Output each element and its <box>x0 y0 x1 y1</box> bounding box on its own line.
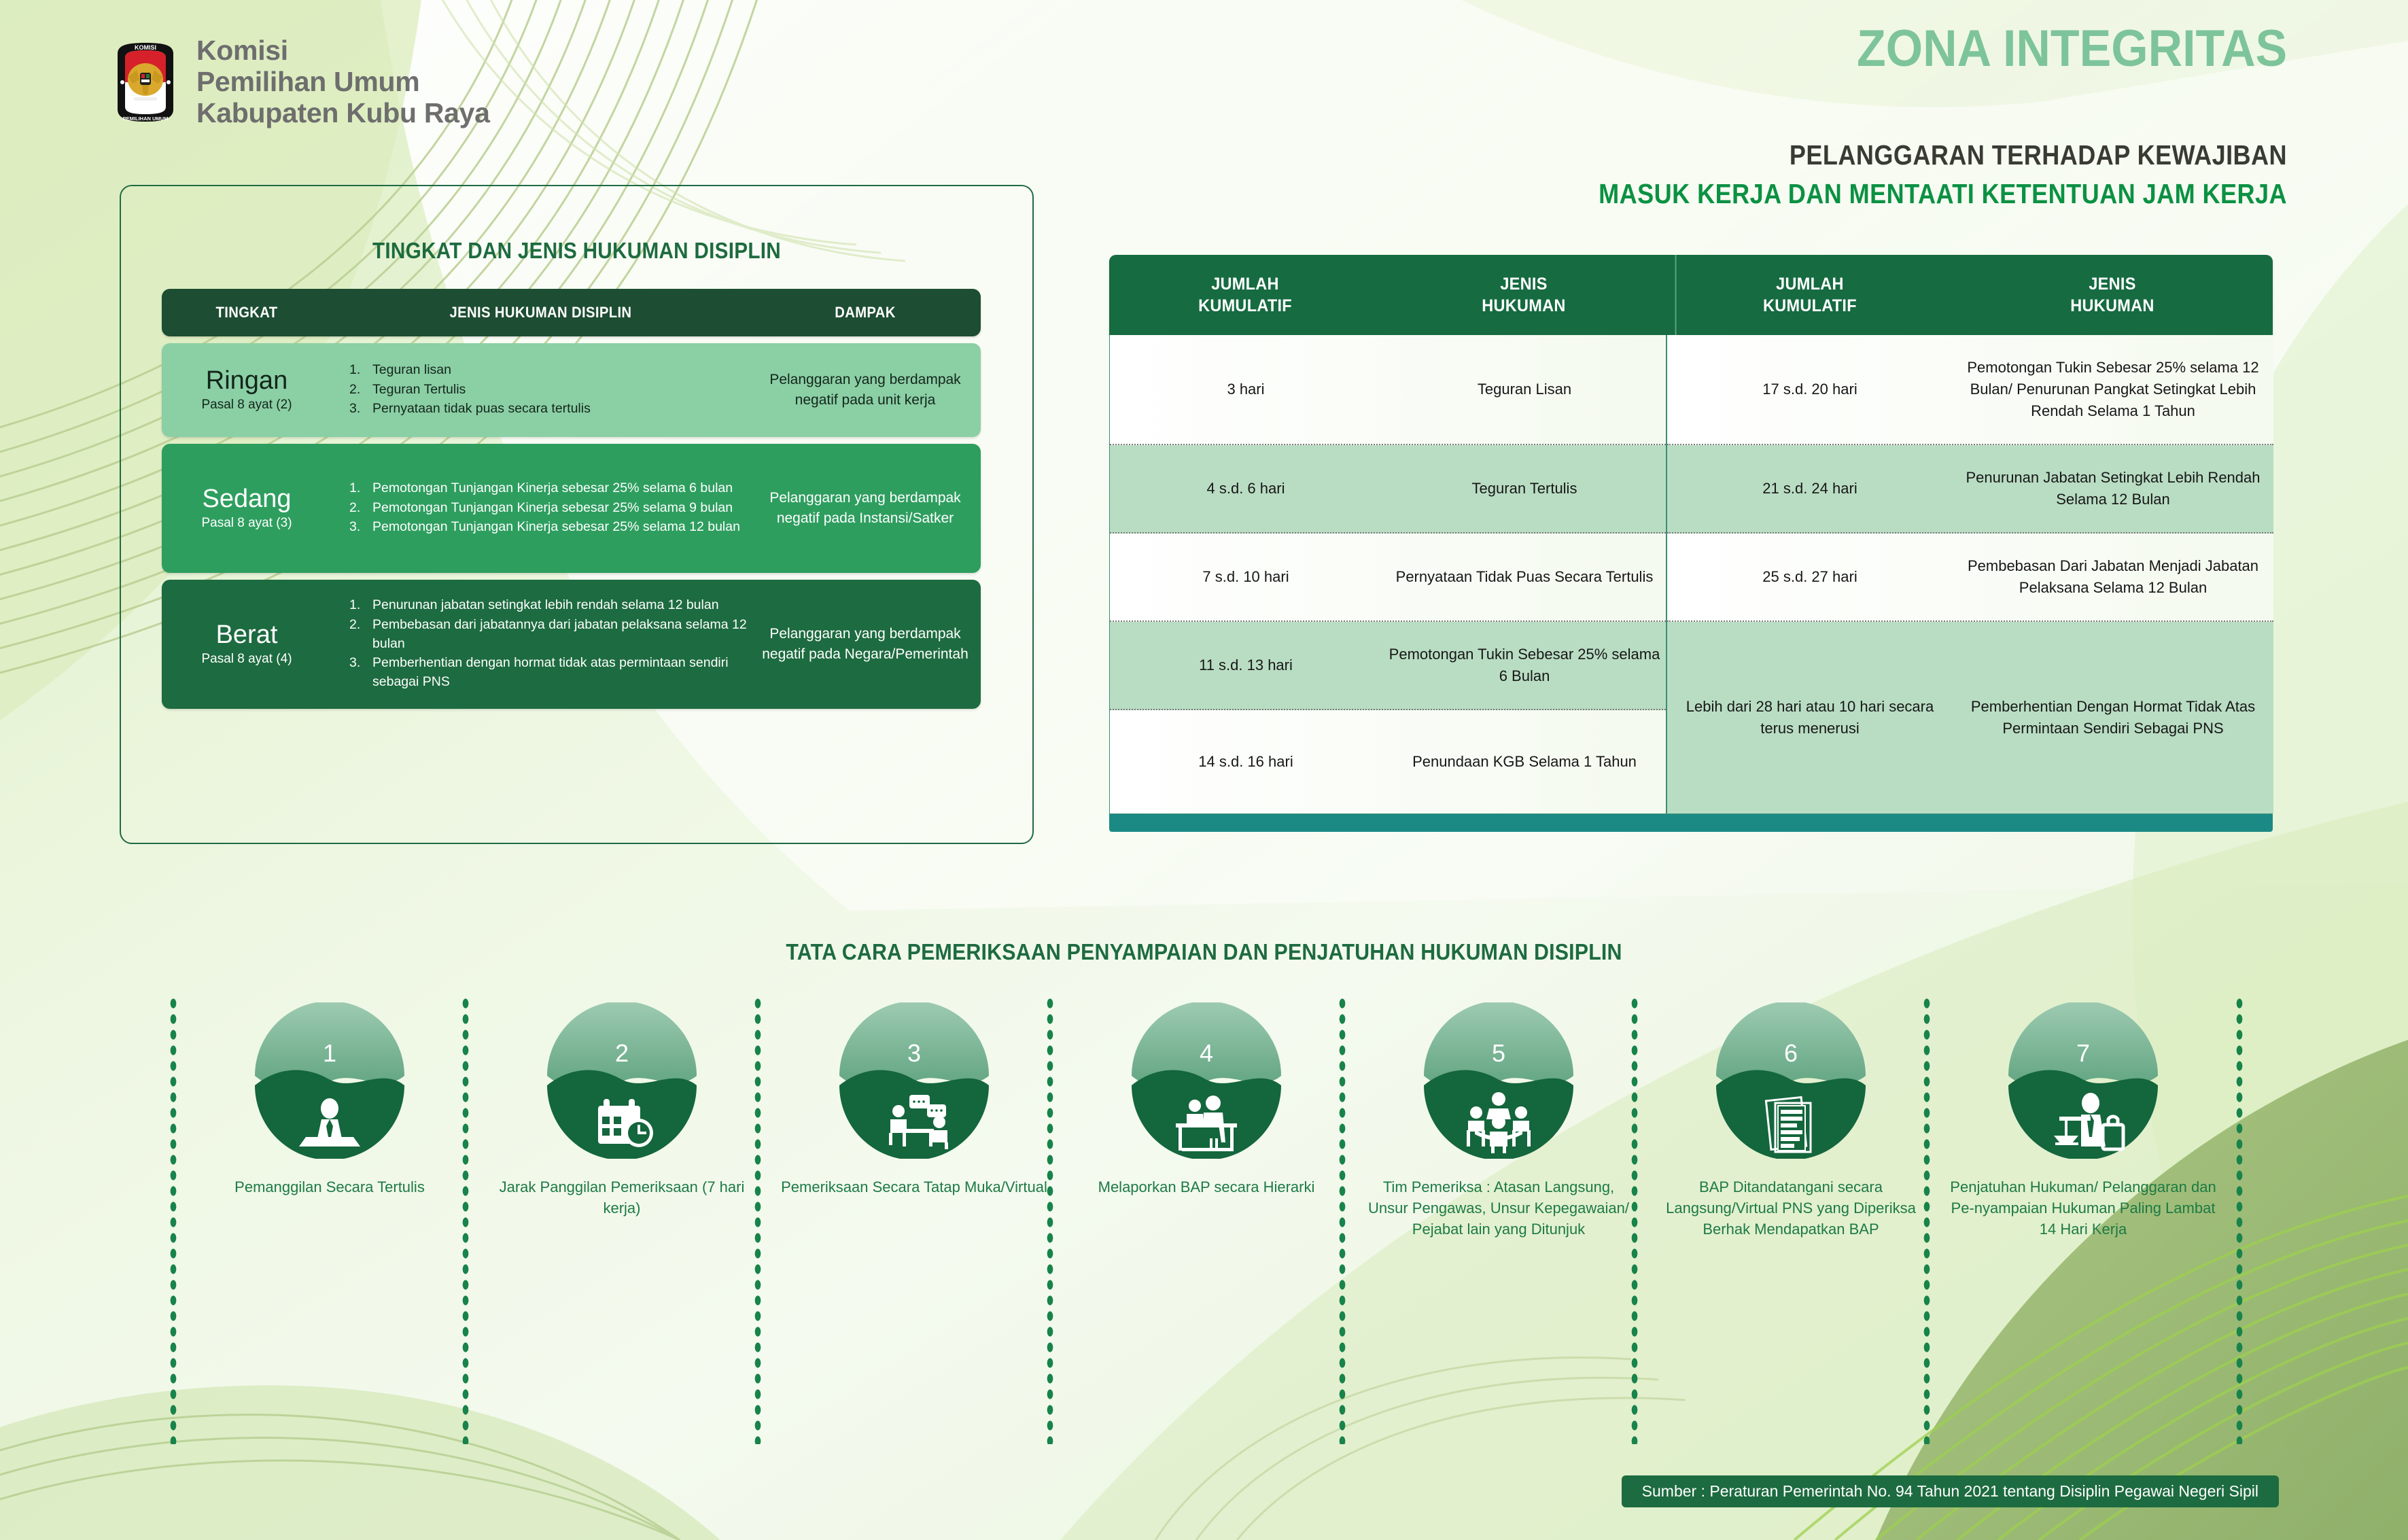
org-logo-block: KOMISI PEMILIHAN UMUM Komisi Pemilihan U… <box>112 35 490 129</box>
cumulative-absence-table: JUMLAH KUMULATIF JENIS HUKUMAN JUMLAH KU… <box>1109 255 2273 832</box>
dotted-divider <box>169 996 178 1444</box>
days-cell: 11 s.d. 13 hari <box>1110 650 1382 680</box>
process-step-2[interactable]: 2 Jarak Panggilan Pemeriksaan (7 hari ke… <box>476 996 768 1240</box>
process-step-6[interactable]: 6 BAP Ditandatangani secara Langsung/Vir… <box>1645 996 1937 1240</box>
step-number: 1 <box>251 1039 408 1068</box>
step-label: Pemanggilan Secara Tertulis <box>184 1176 476 1197</box>
step-label: BAP Ditandatangani secara Langsung/Virtu… <box>1645 1176 1937 1240</box>
list-item: 3.Pernyataan tidak puas secara tertulis <box>349 400 750 419</box>
table-header-row: TINGKAT JENIS HUKUMAN DISIPLIN DAMPAK <box>162 289 981 336</box>
table-row: Ringan Pasal 8 ayat (2) 1.Teguran lisan … <box>162 343 981 437</box>
step-badge: 2 <box>544 1002 700 1159</box>
list-item: 1.Pemotongan Tunjangan Kinerja sebesar 2… <box>349 479 750 498</box>
days-cell: 21 s.d. 24 hari <box>1667 474 1953 504</box>
source-note: Sumber : Peraturan Pemerintah No. 94 Tah… <box>1622 1475 2279 1507</box>
kpu-seal-icon: KOMISI PEMILIHAN UMUM <box>112 41 179 123</box>
table-row: 4 s.d. 6 hari Teguran Tertulis <box>1110 445 1666 533</box>
process-step-4[interactable]: 4 Melaporkan BAP secara Hierarki <box>1060 996 1353 1240</box>
step-number: 6 <box>1713 1039 1869 1068</box>
column-header-jenis-hukuman-1: JENIS HUKUMAN <box>1390 255 1658 335</box>
table-header-row: JUMLAH KUMULATIF JENIS HUKUMAN JUMLAH KU… <box>1109 255 2273 335</box>
list-item: 2.Pembebasan dari jabatannya dari jabata… <box>349 616 750 653</box>
list-item: 2.Teguran Tertulis <box>349 381 750 400</box>
column-header-jenis: JENIS HUKUMAN DISIPLIN <box>349 304 733 321</box>
step-badge: 5 <box>1420 1002 1577 1159</box>
brand-title: ZONA INTEGRITAS <box>1857 19 2287 78</box>
level-article: Pasal 8 ayat (2) <box>162 398 332 413</box>
impact-cell: Pelanggaran yang berdampak negatif pada … <box>750 488 981 529</box>
process-step-7[interactable]: 7 Penjatuhan Hukuman/ Pelanggaran dan Pe… <box>1937 996 2229 1240</box>
punishment-list: 1.Teguran lisan 2.Teguran Tertulis 3.Per… <box>332 361 750 419</box>
poster-subtitle: PELANGGARAN TERHADAP KEWAJIBAN MASUK KER… <box>1505 139 2287 210</box>
org-name-line1: Komisi <box>196 35 490 67</box>
column-header-jumlah-kumulatif-2: JUMLAH KUMULATIF <box>1675 255 1944 335</box>
days-cell: 7 s.d. 10 hari <box>1110 562 1382 592</box>
level-article: Pasal 8 ayat (4) <box>162 652 332 667</box>
table-footer-bar <box>1109 814 2273 832</box>
punishment-cell: Pemberhentian Dengan Hormat Tidak Atas P… <box>1953 692 2273 743</box>
days-cell: 25 s.d. 27 hari <box>1667 562 1953 592</box>
dotted-divider-end <box>2235 996 2244 1444</box>
org-name-line3: Kabupaten Kubu Raya <box>196 98 490 129</box>
punishment-cell: Penurunan Jabatan Setingkat Lebih Rendah… <box>1953 463 2273 514</box>
punishment-cell: Pemotongan Tukin Sebesar 25% selama 6 Bu… <box>1382 640 1667 691</box>
table-row: 3 hari Teguran Lisan <box>1110 335 1666 445</box>
step-badge: 7 <box>2005 1002 2161 1159</box>
table-row: 7 s.d. 10 hari Pernyataan Tidak Puas Sec… <box>1110 533 1666 622</box>
process-step-1[interactable]: 1 Pemanggilan Secara Tertulis <box>184 996 476 1240</box>
org-name: Komisi Pemilihan Umum Kabupaten Kubu Ray… <box>196 35 490 129</box>
step-label: Melaporkan BAP secara Hierarki <box>1060 1176 1353 1197</box>
step-badge: 4 <box>1128 1002 1285 1159</box>
org-name-line2: Pemilihan Umum <box>196 67 490 98</box>
step-number: 7 <box>2005 1039 2161 1068</box>
days-cell: 3 hari <box>1110 374 1382 404</box>
dotted-divider <box>753 996 763 1444</box>
step-label: Jarak Panggilan Pemeriksaan (7 hari kerj… <box>476 1176 768 1219</box>
list-item: 3.Pemberhentian dengan hormat tidak atas… <box>349 654 750 691</box>
dotted-divider <box>1630 996 1639 1444</box>
svg-text:PEMILIHAN UMUM: PEMILIHAN UMUM <box>123 116 169 122</box>
process-step-5[interactable]: 5 Tim Pemeriksa : Atasan Langsung, Unsur… <box>1353 996 1645 1240</box>
level-name: Sedang <box>162 486 332 513</box>
list-item: 3.Pemotongan Tunjangan Kinerja sebesar 2… <box>349 518 750 537</box>
list-item: 2.Pemotongan Tunjangan Kinerja sebesar 2… <box>349 499 750 518</box>
dotted-divider <box>1045 996 1055 1444</box>
table-row: Lebih dari 28 hari atau 10 hari secara t… <box>1667 622 2273 813</box>
level-name: Berat <box>162 622 332 649</box>
subtitle-line-1: PELANGGARAN TERHADAP KEWAJIBAN <box>1599 139 2287 171</box>
punishment-cell: Pernyataan Tidak Puas Secara Tertulis <box>1382 562 1667 592</box>
table-row: 11 s.d. 13 hari Pemotongan Tukin Sebesar… <box>1110 622 1666 710</box>
process-steps: 1 Pemanggilan Secara Tertulis <box>184 996 2229 1240</box>
table-row: 14 s.d. 16 hari Penundaan KGB Selama 1 T… <box>1110 710 1666 813</box>
process-step-3[interactable]: 3 Pemeriksaan Secara Tatap Muka/Virtual <box>768 996 1060 1240</box>
step-label: Tim Pemeriksa : Atasan Langsung, Unsur P… <box>1353 1176 1645 1240</box>
punishment-cell: Penundaan KGB Selama 1 Tahun <box>1382 747 1667 777</box>
step-number: 3 <box>836 1039 992 1068</box>
svg-text:KOMISI: KOMISI <box>135 44 156 51</box>
days-cell: 14 s.d. 16 hari <box>1110 747 1382 777</box>
left-column-group: 3 hari Teguran Lisan 4 s.d. 6 hari Tegur… <box>1110 335 1667 813</box>
level-name: Ringan <box>162 368 332 395</box>
table-row: 17 s.d. 20 hari Pemotongan Tukin Sebesar… <box>1667 335 2273 445</box>
column-header-dampak: DAMPAK <box>759 304 972 321</box>
impact-cell: Pelanggaran yang berdampak negatif pada … <box>750 370 981 410</box>
punishment-cell: Teguran Tertulis <box>1382 474 1667 504</box>
dotted-divider <box>1922 996 1932 1444</box>
left-panel-title: TINGKAT DAN JENIS HUKUMAN DISIPLIN <box>165 238 988 264</box>
impact-cell: Pelanggaran yang berdampak negatif pada … <box>750 624 981 665</box>
step-number: 4 <box>1128 1039 1285 1068</box>
list-item: 1.Teguran lisan <box>349 361 750 380</box>
step-label: Penjatuhan Hukuman/ Pelanggaran dan Pe-n… <box>1937 1176 2229 1240</box>
table-body: 3 hari Teguran Lisan 4 s.d. 6 hari Tegur… <box>1109 335 2273 814</box>
discipline-levels-table: TINGKAT JENIS HUKUMAN DISIPLIN DAMPAK Ri… <box>162 289 981 716</box>
dotted-divider <box>461 996 470 1444</box>
subtitle-line-2: MASUK KERJA DAN MENTAATI KETENTUAN JAM K… <box>1599 178 2287 210</box>
punishment-list: 1.Pemotongan Tunjangan Kinerja sebesar 2… <box>332 479 750 538</box>
step-label: Pemeriksaan Secara Tatap Muka/Virtual <box>768 1176 1060 1197</box>
days-cell: Lebih dari 28 hari atau 10 hari secara t… <box>1667 692 1953 743</box>
level-cell: Sedang Pasal 8 ayat (3) <box>162 486 332 531</box>
dotted-divider <box>1338 996 1347 1444</box>
punishment-list: 1.Penurunan jabatan setingkat lebih rend… <box>332 596 750 692</box>
step-number: 2 <box>544 1039 700 1068</box>
column-header-jenis-hukuman-2: JENIS HUKUMAN <box>1961 255 2263 335</box>
process-section-title: TATA CARA PEMERIKSAAN PENYAMPAIAN DAN PE… <box>97 939 2312 965</box>
column-header-tingkat: TINGKAT <box>169 304 325 321</box>
punishment-cell: Pemotongan Tukin Sebesar 25% selama 12 B… <box>1953 353 2273 426</box>
table-row: 25 s.d. 27 hari Pembebasan Dari Jabatan … <box>1667 533 2273 622</box>
list-item: 1.Penurunan jabatan setingkat lebih rend… <box>349 596 750 615</box>
punishment-cell: Pembebasan Dari Jabatan Menjadi Jabatan … <box>1953 551 2273 603</box>
step-number: 5 <box>1420 1039 1577 1068</box>
table-row: Sedang Pasal 8 ayat (3) 1.Pemotongan Tun… <box>162 444 981 573</box>
table-row: Berat Pasal 8 ayat (4) 1.Penurunan jabat… <box>162 580 981 709</box>
level-cell: Ringan Pasal 8 ayat (2) <box>162 368 332 413</box>
level-article: Pasal 8 ayat (3) <box>162 516 332 531</box>
step-badge: 3 <box>836 1002 992 1159</box>
days-cell: 17 s.d. 20 hari <box>1667 374 1953 404</box>
column-header-jumlah-kumulatif-1: JUMLAH KUMULATIF <box>1117 255 1373 335</box>
step-badge: 1 <box>251 1002 408 1159</box>
level-cell: Berat Pasal 8 ayat (4) <box>162 622 332 667</box>
right-column-group: 17 s.d. 20 hari Pemotongan Tukin Sebesar… <box>1667 335 2273 813</box>
step-badge: 6 <box>1713 1002 1869 1159</box>
punishment-cell: Teguran Lisan <box>1382 374 1667 404</box>
days-cell: 4 s.d. 6 hari <box>1110 474 1382 504</box>
table-row: 21 s.d. 24 hari Penurunan Jabatan Seting… <box>1667 445 2273 533</box>
